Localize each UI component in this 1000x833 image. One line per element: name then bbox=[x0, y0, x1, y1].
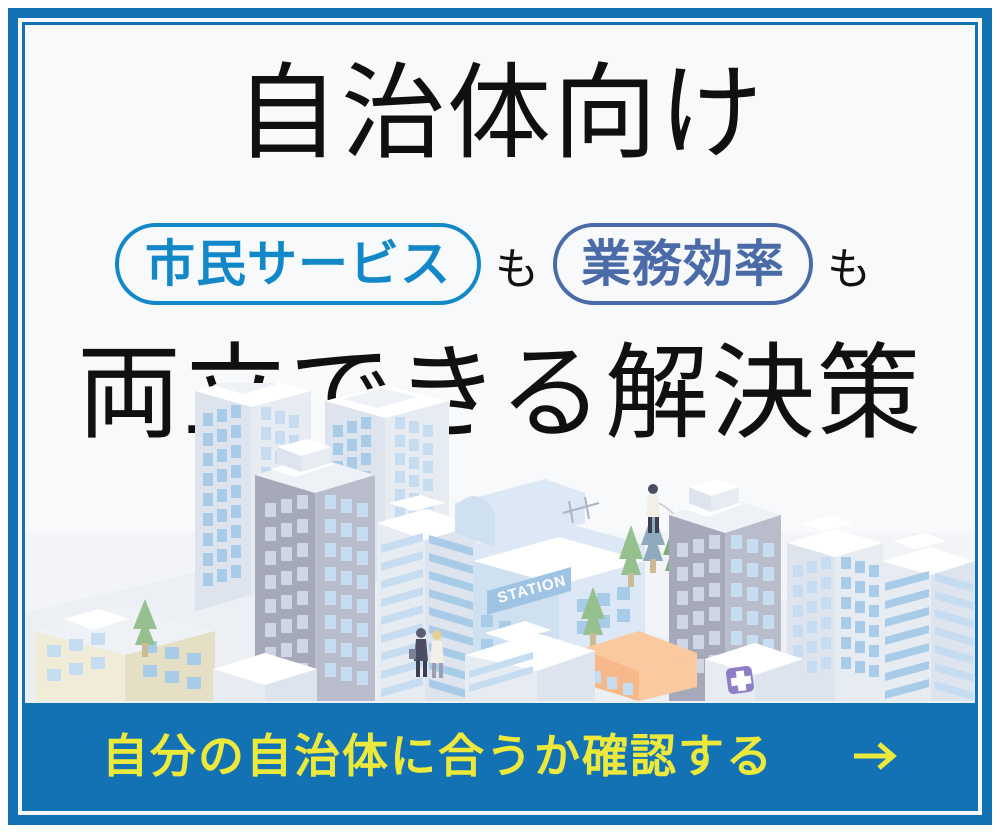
connector-mo-2: も bbox=[813, 248, 885, 292]
arrow-right-icon bbox=[852, 741, 898, 771]
headline-line-1: 自治体向け bbox=[25, 63, 975, 167]
hospital-cross-icon bbox=[725, 665, 754, 694]
badge-work-efficiency[interactable]: 業務効率 bbox=[553, 223, 813, 305]
badge-citizen-service-label: 市民サービス bbox=[145, 239, 451, 289]
cityscape-illustration: .g-ground { fill:#eceff4; } .g-ground2{ … bbox=[25, 383, 975, 703]
building-tower-striped-right bbox=[881, 533, 975, 701]
badge-citizen-service[interactable]: 市民サービス bbox=[115, 223, 481, 305]
badge-work-efficiency-label: 業務効率 bbox=[581, 239, 785, 289]
headline-line-1-suffix: 向け bbox=[553, 57, 765, 172]
banner-root: 自治体向け 市民サービス も 業務効率 も 両立できる解決策 .g-ground… bbox=[0, 0, 1000, 833]
headline-highlighted-text: 自治体 bbox=[235, 63, 553, 167]
cta-label: 自分の自治体に合うか確認する bbox=[102, 733, 774, 779]
banner-stage: 自治体向け 市民サービス も 業務効率 も 両立できる解決策 .g-ground… bbox=[25, 25, 975, 808]
cityscape-svg: .g-ground { fill:#eceff4; } .g-ground2{ … bbox=[25, 383, 975, 703]
connector-mo-1: も bbox=[481, 248, 553, 292]
badge-row: 市民サービス も 業務効率 も bbox=[25, 223, 975, 305]
cta-button[interactable]: 自分の自治体に合うか確認する bbox=[25, 703, 975, 808]
